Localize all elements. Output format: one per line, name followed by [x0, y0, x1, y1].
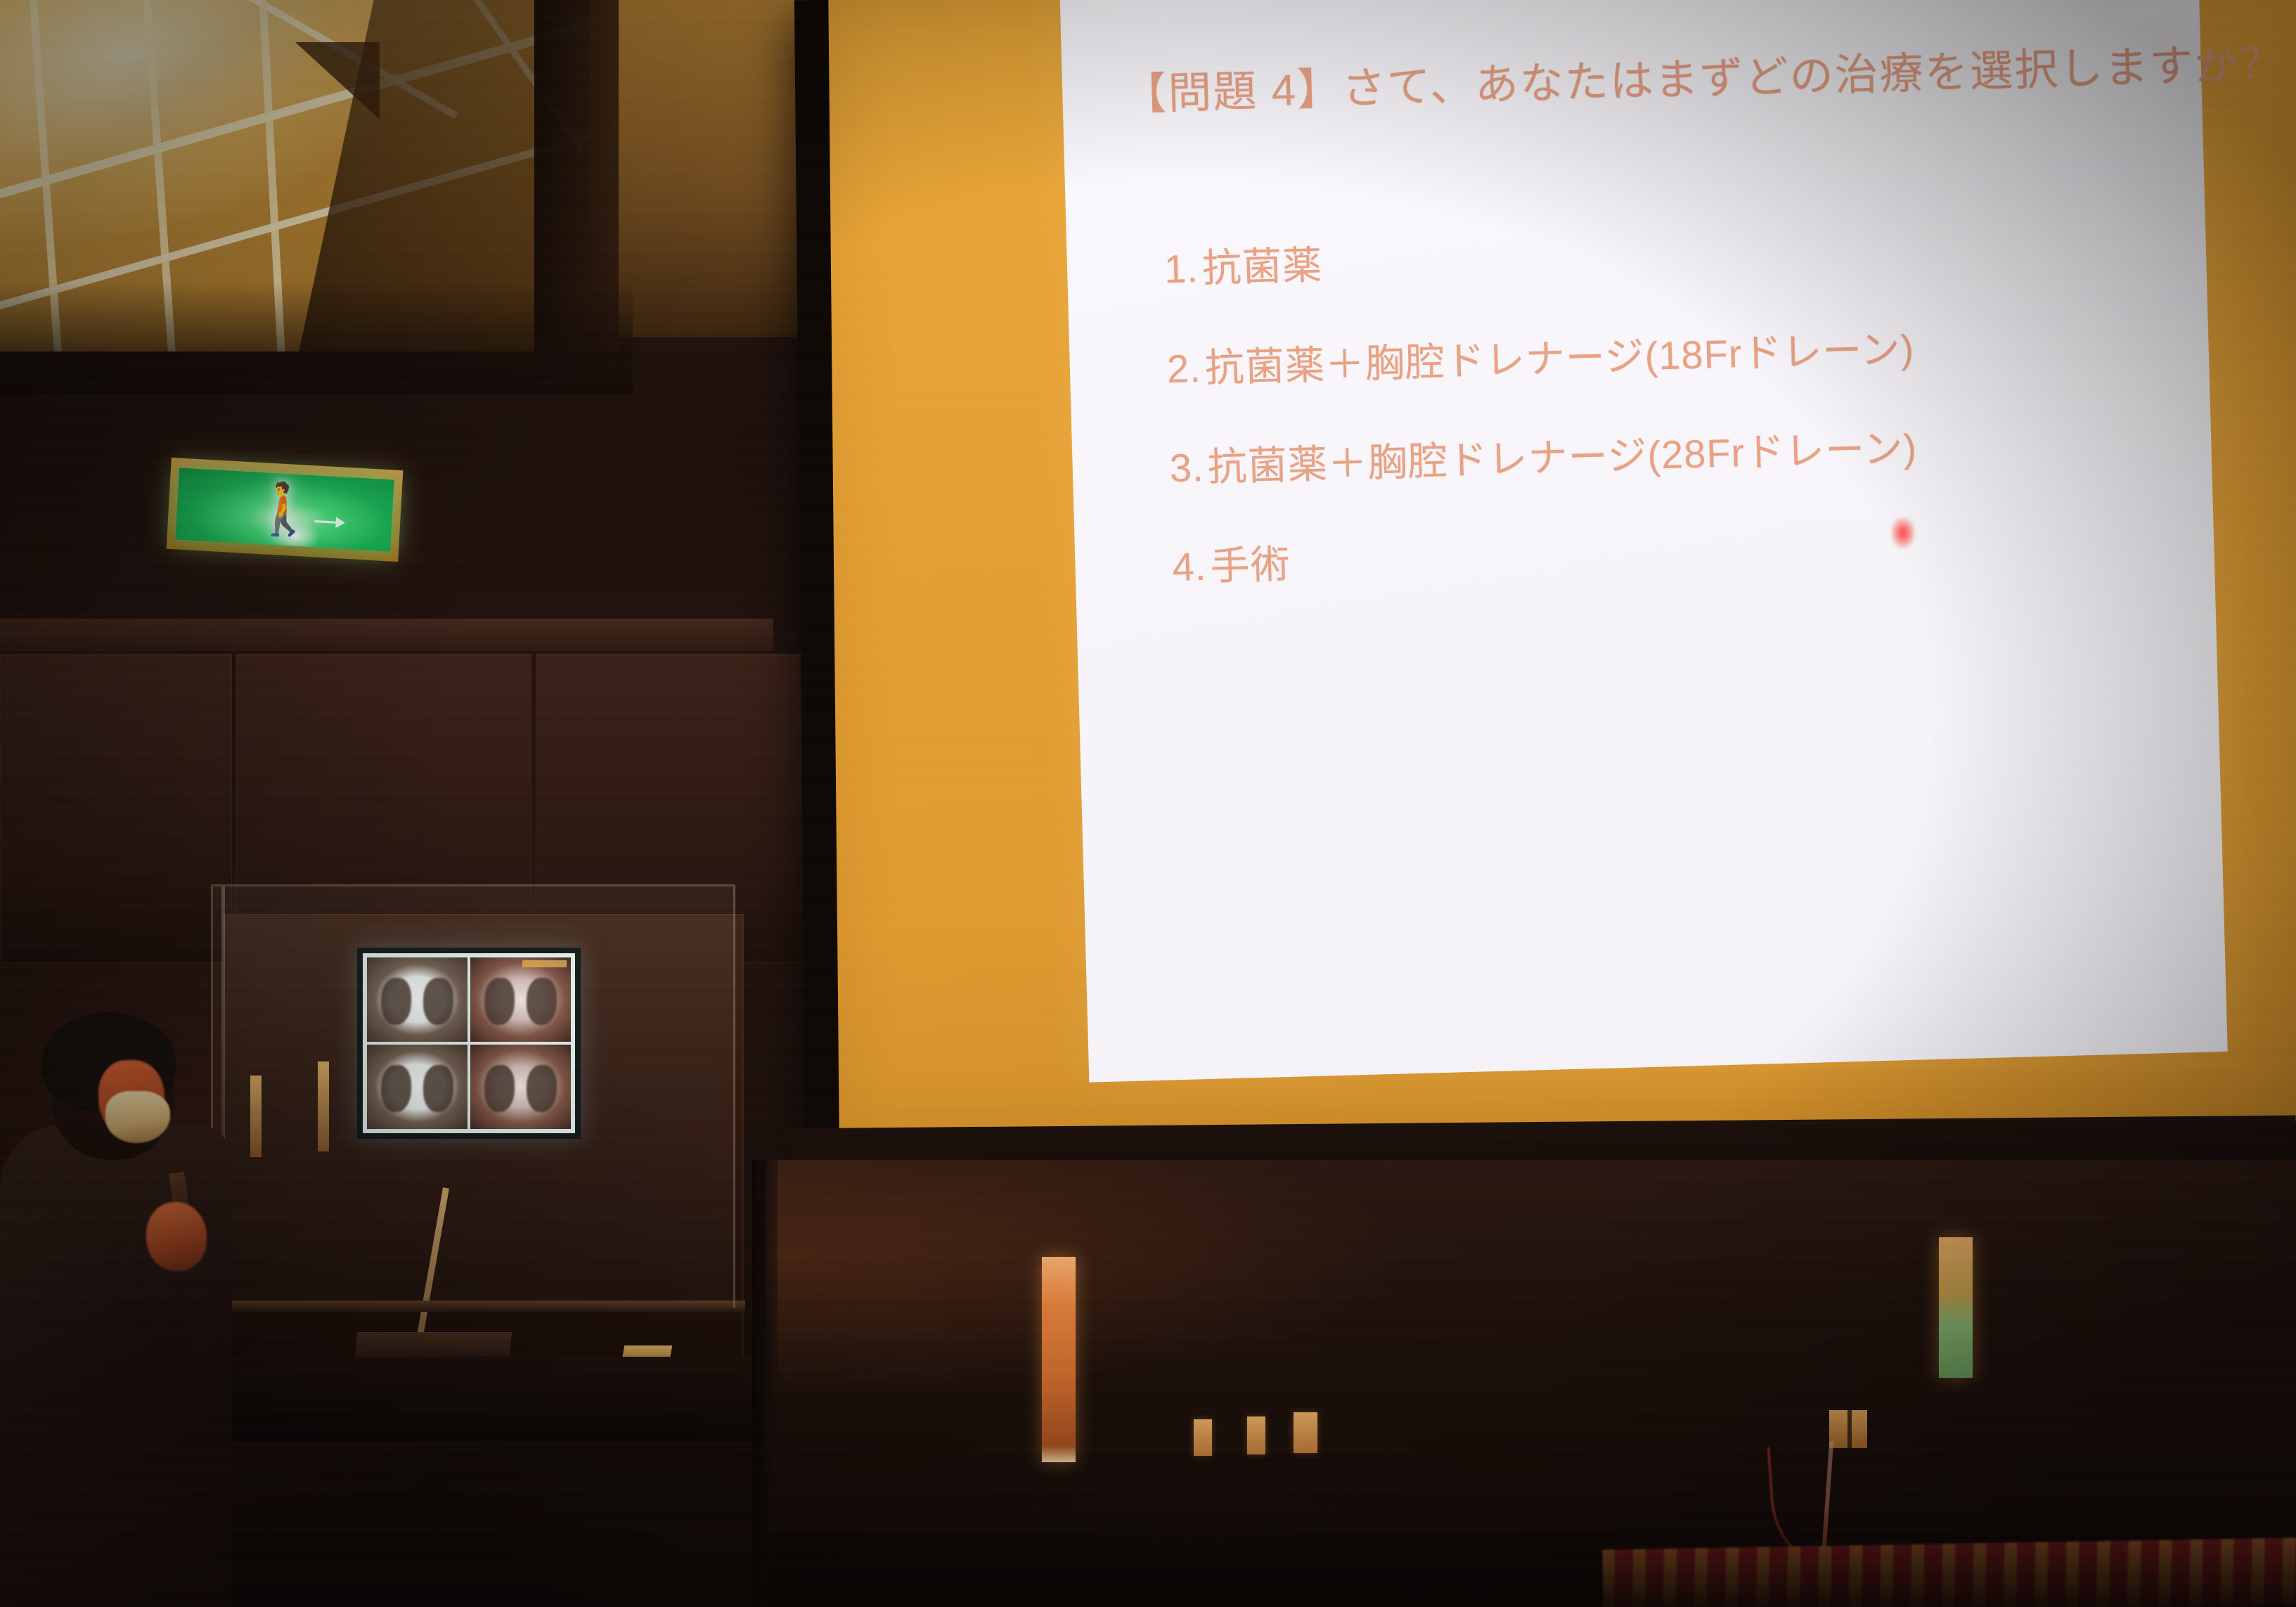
wall-switch-plate[interactable]	[1194, 1419, 1212, 1456]
wall-light-strip	[1939, 1237, 1973, 1378]
wall-rail	[0, 619, 773, 651]
slide-option-1: 1. 抗菌薬	[1127, 219, 2157, 294]
presenter-body	[0, 1125, 232, 1607]
ct-lung-field	[423, 1065, 453, 1112]
confidence-monitor	[357, 948, 581, 1139]
ct-scan-panel	[367, 1045, 467, 1129]
presenter-hand	[146, 1202, 207, 1271]
ct-scan-panel	[470, 1045, 571, 1129]
slide-options-list: 1. 抗菌薬 2. 抗菌薬＋胸腔ドレナージ(18Frドレーン) 3. 抗菌薬＋胸…	[1127, 219, 2165, 591]
laser-pointer-dot	[1890, 517, 1915, 549]
wall-panel	[0, 654, 232, 963]
option-text: 抗菌薬＋胸腔ドレナージ(18Frドレーン)	[1204, 325, 1915, 391]
lattice-fade	[0, 281, 633, 394]
option-number: 3.	[1133, 443, 1208, 492]
ct-lung-field	[381, 1065, 411, 1112]
ct-lung-field	[484, 978, 515, 1025]
ct-lung-field	[423, 978, 453, 1025]
ct-scan-panel	[470, 957, 571, 1042]
presenter	[0, 984, 232, 1607]
slide-title: 【問題 4】さて、あなたはまずどの治療を選択しますか？	[1122, 39, 2153, 123]
ct-lung-field	[527, 978, 557, 1025]
lectern-base	[198, 1357, 761, 1441]
slide-option-3: 3. 抗菌薬＋胸腔ドレナージ(28Frドレーン)	[1133, 418, 2162, 493]
lectern-object	[318, 1061, 329, 1151]
option-number: 1.	[1127, 245, 1203, 294]
ct-scan-grid	[363, 953, 575, 1133]
presentation-slide: 【問題 4】さて、あなたはまずどの治療を選択しますか？ 1. 抗菌薬 2. 抗菌…	[1059, 0, 2228, 1083]
ct-lung-field	[527, 1065, 557, 1112]
presentation-photo: 🚶	[0, 0, 2296, 1607]
slide-content: 【問題 4】さて、あなたはまずどの治療を選択しますか？ 1. 抗菌薬 2. 抗菌…	[1059, 0, 2228, 1083]
ct-scan-panel	[367, 957, 467, 1042]
slide-option-4: 4. 手術	[1135, 517, 2165, 592]
wall-switch-plate[interactable]	[1294, 1412, 1317, 1453]
option-text: 手術	[1210, 541, 1291, 590]
floor-shadow	[766, 1504, 2296, 1607]
option-number: 4.	[1135, 543, 1211, 592]
emergency-exit-sign: 🚶	[167, 458, 404, 562]
option-number: 2.	[1130, 344, 1206, 393]
ct-annotation-bar	[522, 960, 567, 967]
slide-option-2: 2. 抗菌薬＋胸腔ドレナージ(18Frドレーン)	[1130, 318, 2160, 394]
lower-wall-glow	[766, 1160, 1399, 1399]
running-man-icon: 🚶	[252, 483, 318, 537]
wall-light-strip	[1042, 1257, 1076, 1462]
option-text: 抗菌薬	[1201, 242, 1323, 292]
option-text: 抗菌薬＋胸腔ドレナージ(28Frドレーン)	[1207, 424, 1918, 490]
exit-sign-face: 🚶	[175, 468, 394, 552]
ct-lung-field	[381, 978, 411, 1025]
lectern-edge	[211, 1301, 745, 1312]
ct-lung-field	[484, 1065, 515, 1112]
wall-switch-plate[interactable]	[1247, 1416, 1265, 1454]
lectern-object	[250, 1076, 262, 1157]
